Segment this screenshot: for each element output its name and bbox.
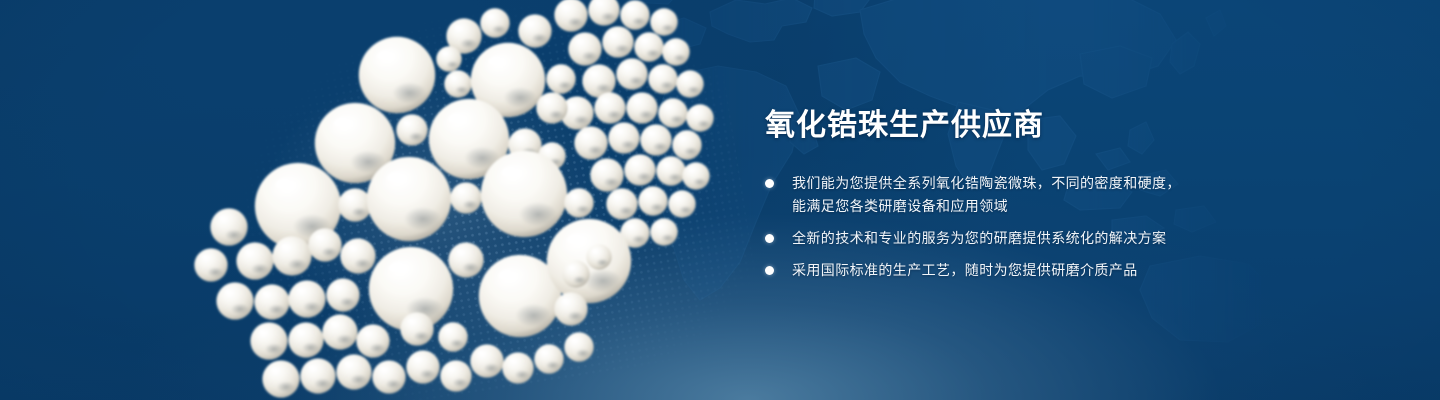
page-title: 氧化锆珠生产供应商	[765, 108, 1285, 144]
bullet-line: 能满足您各类研磨设备和应用领域	[792, 195, 1285, 218]
list-item: 采用国际标准的生产工艺，随时为您提供研磨介质产品	[765, 259, 1285, 282]
list-item: 全新的技术和专业的服务为您的研磨提供系统化的解决方案	[765, 227, 1285, 250]
bullet-line: 我们能为您提供全系列氧化锆陶瓷微珠，不同的密度和硬度，	[792, 172, 1285, 195]
feature-bullet-list: 我们能为您提供全系列氧化锆陶瓷微珠，不同的密度和硬度， 能满足您各类研磨设备和应…	[765, 172, 1285, 282]
bullet-dot-icon	[765, 266, 774, 275]
hero-banner: 氧化锆珠生产供应商 我们能为您提供全系列氧化锆陶瓷微珠，不同的密度和硬度， 能满…	[0, 0, 1440, 400]
list-item: 我们能为您提供全系列氧化锆陶瓷微珠，不同的密度和硬度， 能满足您各类研磨设备和应…	[765, 172, 1285, 218]
bullet-dot-icon	[765, 179, 774, 188]
banner-text-block: 氧化锆珠生产供应商 我们能为您提供全系列氧化锆陶瓷微珠，不同的密度和硬度， 能满…	[765, 108, 1285, 282]
bullet-line: 采用国际标准的生产工艺，随时为您提供研磨介质产品	[792, 259, 1285, 282]
bullet-line: 全新的技术和专业的服务为您的研磨提供系统化的解决方案	[792, 227, 1285, 250]
bullet-dot-icon	[765, 234, 774, 243]
